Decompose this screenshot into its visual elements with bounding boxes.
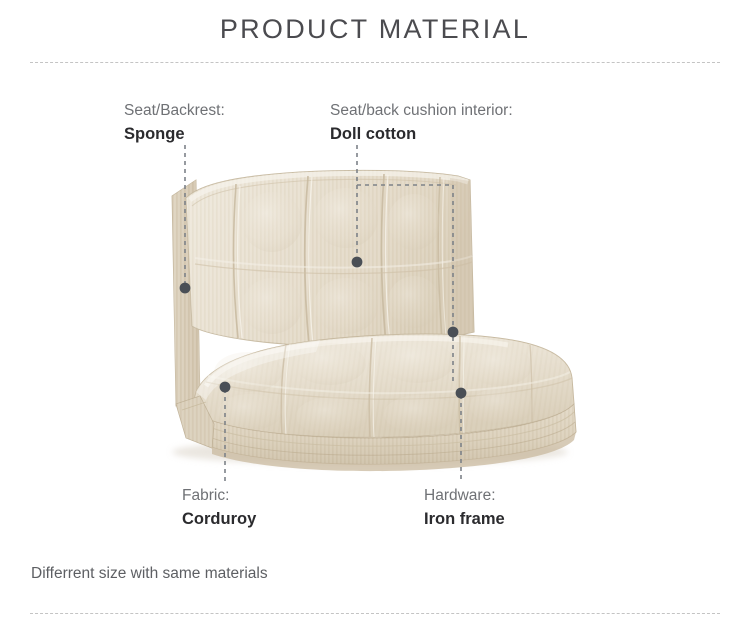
callout-cushion-interior-value: Doll cotton <box>330 123 513 146</box>
marker-dot-cushion-interior-secondary <box>448 327 459 338</box>
callout-fabric: Fabric: Corduroy <box>182 485 256 531</box>
marker-dot-fabric <box>220 382 231 393</box>
marker-dot-seat-backrest <box>180 283 191 294</box>
callout-cushion-interior-title: Seat/back cushion interior: <box>330 100 513 121</box>
callout-hardware-value: Iron frame <box>424 508 505 531</box>
marker-dot-cushion-interior <box>352 257 363 268</box>
footer-note: Differrent size with same materials <box>31 565 268 583</box>
callout-hardware-title: Hardware: <box>424 485 505 506</box>
callout-hardware: Hardware: Iron frame <box>424 485 505 531</box>
divider-bottom <box>30 613 720 614</box>
marker-dot-hardware <box>456 388 467 399</box>
product-material-infographic: PRODUCT MATERIAL <box>0 0 750 643</box>
product-illustration <box>0 0 750 643</box>
callout-seat-backrest-value: Sponge <box>124 123 225 146</box>
callout-cushion-interior: Seat/back cushion interior: Doll cotton <box>330 100 513 146</box>
callout-seat-backrest-title: Seat/Backrest: <box>124 100 225 121</box>
sofa-illustration <box>172 170 576 471</box>
callout-fabric-title: Fabric: <box>182 485 256 506</box>
callout-fabric-value: Corduroy <box>182 508 256 531</box>
callout-seat-backrest: Seat/Backrest: Sponge <box>124 100 225 146</box>
